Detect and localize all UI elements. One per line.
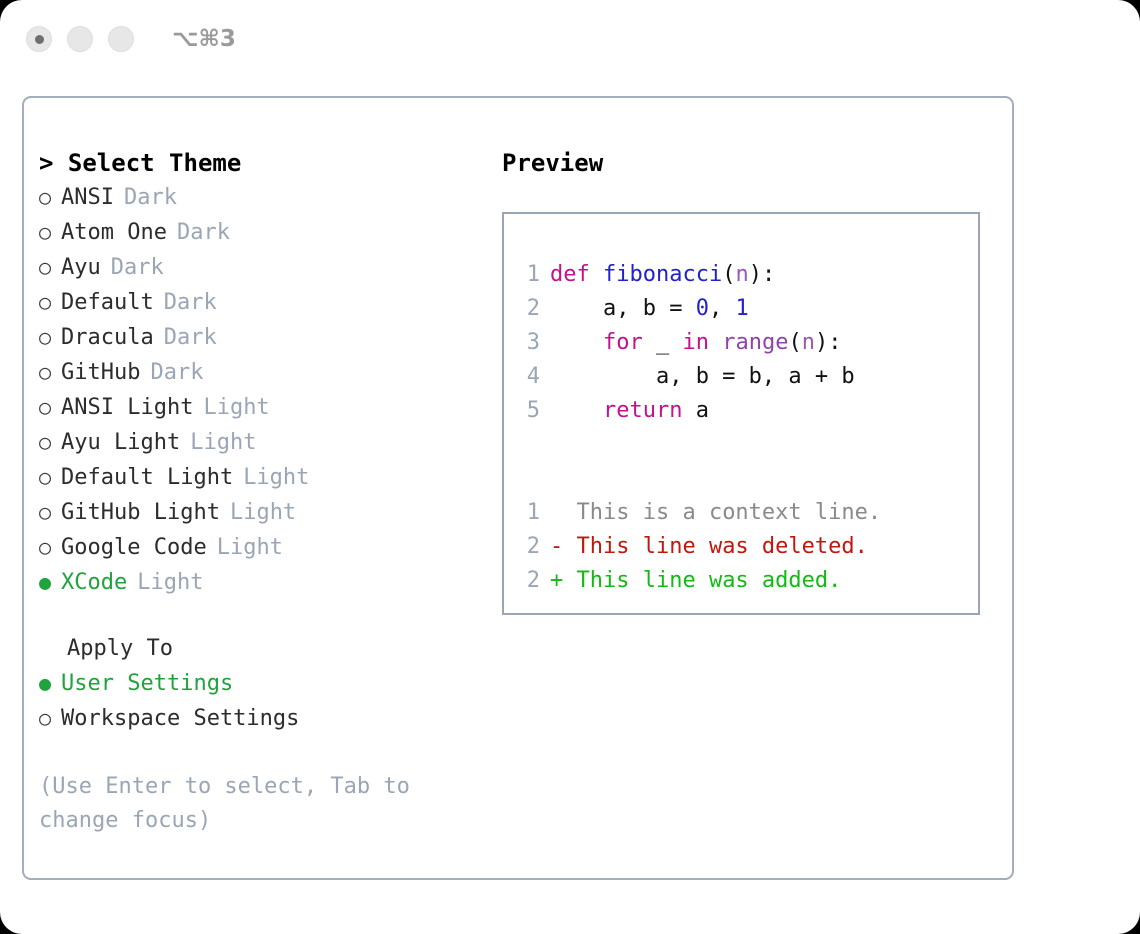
theme-option-label: Default xyxy=(61,286,154,320)
theme-option-kind: Dark xyxy=(164,286,217,320)
theme-option-ayu-light[interactable]: ○Ayu LightLight xyxy=(39,425,469,460)
preview-heading: Preview xyxy=(502,146,992,180)
diff-line: 1 This is a context line. xyxy=(518,496,978,530)
keyboard-hint: (Use Enter to select, Tab to change focu… xyxy=(39,770,439,838)
diff-text: This is a context line. xyxy=(563,500,881,525)
theme-option-label: Default Light xyxy=(61,461,233,495)
theme-option-kind: Light xyxy=(243,461,309,495)
apply-to-option-label: Workspace Settings xyxy=(61,702,299,736)
theme-option-xcode[interactable]: ●XCodeLight xyxy=(39,565,469,600)
code-token xyxy=(550,398,603,423)
code-token: range xyxy=(722,330,788,355)
code-token: in xyxy=(682,330,709,355)
code-line: 5 return a xyxy=(518,394,978,428)
theme-option-label: Google Code xyxy=(61,531,207,565)
theme-selection-column: > Select Theme ○ANSIDark○Atom OneDark○Ay… xyxy=(39,146,469,838)
code-token: return xyxy=(603,398,682,423)
diff-sample: 1 This is a context line.2- This line wa… xyxy=(518,496,978,598)
radio-unselected-icon: ○ xyxy=(39,250,61,284)
theme-option-kind: Light xyxy=(137,566,203,600)
theme-picker-panel: > Select Theme ○ANSIDark○Atom OneDark○Ay… xyxy=(22,96,1014,880)
code-preview-box: 1def fibonacci(n):2 a, b = 0, 13 for _ i… xyxy=(502,212,980,615)
code-line: 2 a, b = 0, 1 xyxy=(518,292,978,326)
theme-option-kind: Dark xyxy=(111,251,164,285)
line-number: 4 xyxy=(518,360,540,394)
line-number: 2 xyxy=(518,564,540,598)
radio-unselected-icon: ○ xyxy=(39,425,61,459)
window-controls xyxy=(26,26,134,52)
theme-option-label: Dracula xyxy=(61,321,154,355)
theme-option-label: ANSI xyxy=(61,181,114,215)
theme-option-ansi[interactable]: ○ANSIDark xyxy=(39,180,469,215)
apply-to-option-user-settings[interactable]: ●User Settings xyxy=(39,666,469,701)
apply-to-option-workspace-settings[interactable]: ○Workspace Settings xyxy=(39,701,469,736)
code-token: def xyxy=(550,262,603,287)
theme-list: ○ANSIDark○Atom OneDark○AyuDark○DefaultDa… xyxy=(39,180,469,600)
apply-to-option-label: User Settings xyxy=(61,667,233,701)
line-number: 2 xyxy=(518,530,540,564)
radio-unselected-icon: ○ xyxy=(39,285,61,319)
theme-option-label: GitHub xyxy=(61,356,140,390)
preview-column: Preview 1def fibonacci(n):2 a, b = 0, 13… xyxy=(502,146,992,615)
diff-sign: - xyxy=(550,534,563,559)
theme-option-kind: Light xyxy=(230,496,296,530)
diff-sign xyxy=(550,500,563,525)
line-number: 2 xyxy=(518,292,540,326)
theme-option-kind: Light xyxy=(217,531,283,565)
theme-option-label: ANSI Light xyxy=(61,391,193,425)
radio-selected-icon: ● xyxy=(39,666,61,700)
select-theme-heading: > Select Theme xyxy=(39,146,469,180)
theme-option-default[interactable]: ○DefaultDark xyxy=(39,285,469,320)
radio-unselected-icon: ○ xyxy=(39,701,61,735)
code-line: 4 a, b = b, a + b xyxy=(518,360,978,394)
section-spacer xyxy=(39,600,469,632)
radio-unselected-icon: ○ xyxy=(39,530,61,564)
theme-option-label: Atom One xyxy=(61,216,167,250)
theme-option-kind: Dark xyxy=(164,321,217,355)
code-token: n xyxy=(735,262,748,287)
line-number: 3 xyxy=(518,326,540,360)
radio-selected-icon: ● xyxy=(39,565,61,599)
radio-unselected-icon: ○ xyxy=(39,390,61,424)
radio-unselected-icon: ○ xyxy=(39,215,61,249)
code-token: ): xyxy=(815,330,842,355)
radio-unselected-icon: ○ xyxy=(39,495,61,529)
theme-option-kind: Dark xyxy=(150,356,203,390)
line-number: 1 xyxy=(518,258,540,292)
code-token: , xyxy=(709,296,736,321)
code-token: n xyxy=(802,330,815,355)
theme-option-label: GitHub Light xyxy=(61,496,220,530)
radio-unselected-icon: ○ xyxy=(39,460,61,494)
theme-option-dracula[interactable]: ○DraculaDark xyxy=(39,320,469,355)
code-token: ( xyxy=(722,262,735,287)
radio-unselected-icon: ○ xyxy=(39,180,61,214)
theme-option-github[interactable]: ○GitHubDark xyxy=(39,355,469,390)
theme-option-label: Ayu Light xyxy=(61,426,180,460)
code-token: 1 xyxy=(735,296,748,321)
window-dot-third[interactable] xyxy=(108,26,134,52)
apply-to-heading: Apply To xyxy=(39,632,469,666)
app-window: ⌥⌘3 > Select Theme ○ANSIDark○Atom OneDar… xyxy=(0,0,1140,934)
code-token: ): xyxy=(749,262,776,287)
window-dot-active-indicator xyxy=(35,35,44,44)
code-token xyxy=(709,330,722,355)
theme-option-kind: Light xyxy=(190,426,256,460)
code-token: 0 xyxy=(696,296,709,321)
code-token xyxy=(550,330,603,355)
theme-option-ansi-light[interactable]: ○ANSI LightLight xyxy=(39,390,469,425)
code-line: 1def fibonacci(n): xyxy=(518,258,978,292)
theme-option-ayu[interactable]: ○AyuDark xyxy=(39,250,469,285)
code-token: for xyxy=(603,330,643,355)
radio-unselected-icon: ○ xyxy=(39,355,61,389)
theme-option-google-code[interactable]: ○Google CodeLight xyxy=(39,530,469,565)
diff-sign: + xyxy=(550,568,563,593)
theme-option-kind: Dark xyxy=(124,181,177,215)
code-line: 3 for _ in range(n): xyxy=(518,326,978,360)
line-number: 5 xyxy=(518,394,540,428)
theme-option-github-light[interactable]: ○GitHub LightLight xyxy=(39,495,469,530)
theme-option-atom-one[interactable]: ○Atom OneDark xyxy=(39,215,469,250)
diff-line: 2- This line was deleted. xyxy=(518,530,978,564)
apply-to-list: ●User Settings○Workspace Settings xyxy=(39,666,469,736)
code-token: a, b = xyxy=(550,296,696,321)
theme-option-kind: Dark xyxy=(177,216,230,250)
code-token: a, b = b, a + b xyxy=(550,364,855,389)
radio-unselected-icon: ○ xyxy=(39,320,61,354)
diff-line: 2+ This line was added. xyxy=(518,564,978,598)
window-dot-active[interactable] xyxy=(26,26,52,52)
code-token: a xyxy=(682,398,709,423)
theme-option-label: Ayu xyxy=(61,251,101,285)
code-token: fibonacci xyxy=(603,262,722,287)
code-blank-line-2 xyxy=(518,462,978,496)
theme-option-label: XCode xyxy=(61,566,127,600)
line-number: 1 xyxy=(518,496,540,530)
theme-option-default-light[interactable]: ○Default LightLight xyxy=(39,460,469,495)
title-bar: ⌥⌘3 xyxy=(0,0,1140,78)
diff-text: This line was deleted. xyxy=(563,534,868,559)
window-dot-second[interactable] xyxy=(67,26,93,52)
diff-text: This line was added. xyxy=(563,568,841,593)
code-token: _ xyxy=(643,330,683,355)
keyboard-shortcut-label: ⌥⌘3 xyxy=(172,26,236,52)
code-blank-line xyxy=(518,428,978,462)
theme-option-kind: Light xyxy=(203,391,269,425)
code-token: ( xyxy=(788,330,801,355)
code-sample: 1def fibonacci(n):2 a, b = 0, 13 for _ i… xyxy=(518,258,978,428)
